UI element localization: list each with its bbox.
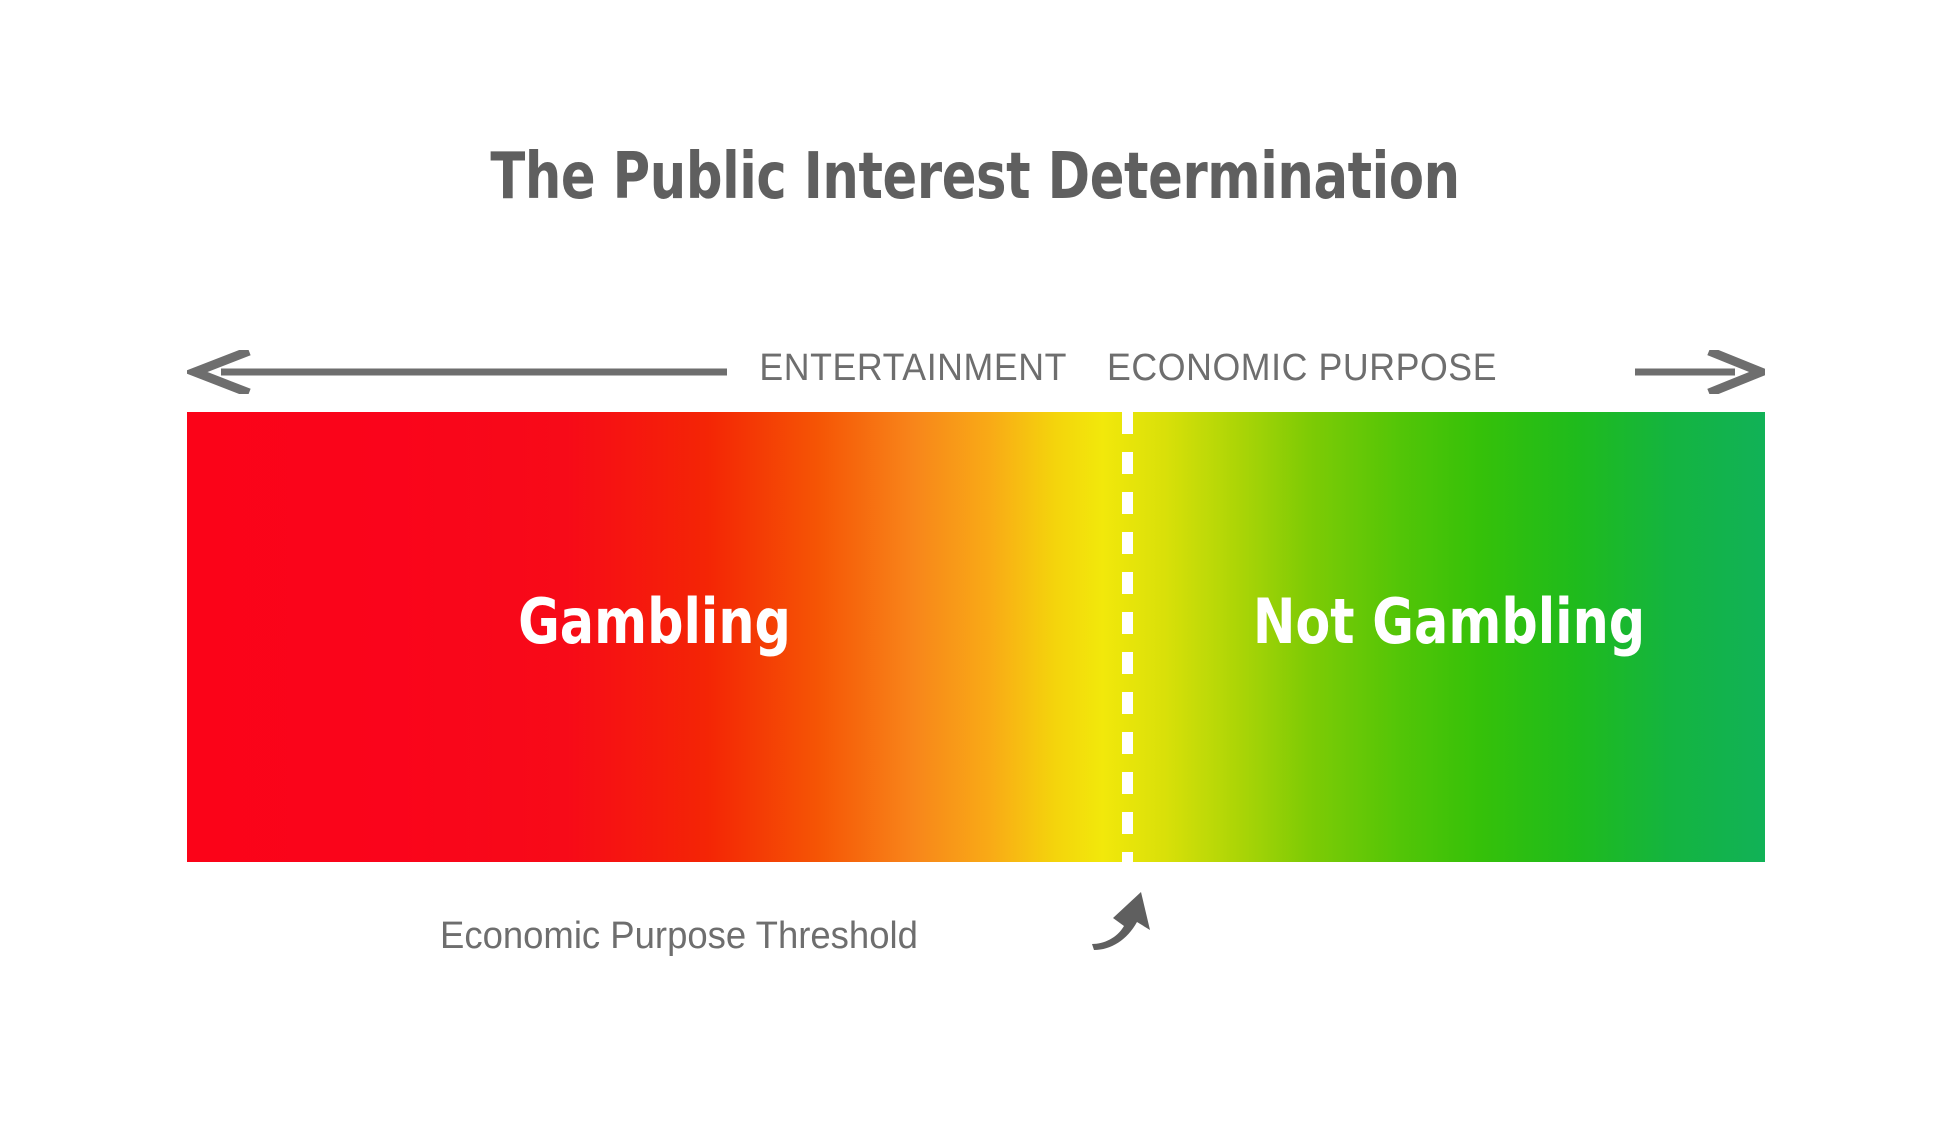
threshold-caption-row: Economic Purpose Threshold xyxy=(440,900,1200,990)
zone-label-not-gambling: Not Gambling xyxy=(1190,585,1708,659)
curved-arrow-up-right-icon xyxy=(1084,878,1164,958)
slide-canvas: The Public Interest Determination ENTERT… xyxy=(0,0,1950,1123)
spectrum-axis-row: ENTERTAINMENT ECONOMIC PURPOSE xyxy=(187,340,1765,402)
arrow-left-icon xyxy=(187,350,727,394)
arrow-right-icon xyxy=(1635,350,1765,394)
economic-purpose-threshold-line xyxy=(1122,412,1133,862)
axis-label-entertainment: ENTERTAINMENT xyxy=(729,340,1067,396)
zone-label-gambling: Gambling xyxy=(271,585,1038,659)
page-title: The Public Interest Determination xyxy=(195,138,1755,216)
axis-label-economic-purpose: ECONOMIC PURPOSE xyxy=(1107,340,1596,396)
threshold-caption-text: Economic Purpose Threshold xyxy=(440,910,1035,962)
